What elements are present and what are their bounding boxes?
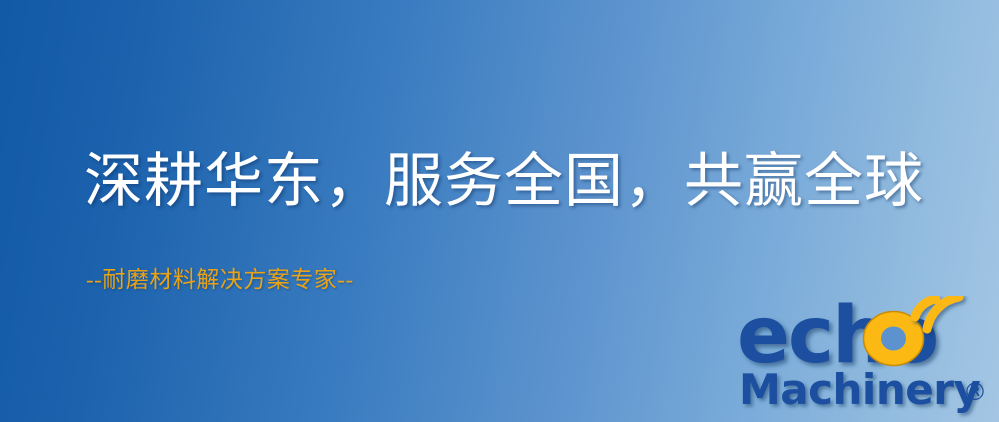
- logo-tagline-text: Machinery: [739, 365, 980, 414]
- banner-headline: 深耕华东，服务全国，共赢全球: [84, 152, 924, 211]
- registered-mark-icon: ®: [963, 378, 987, 406]
- logo-svg: echo Machinery ®: [737, 296, 999, 422]
- logo-tagline: Machinery: [739, 365, 980, 414]
- echo-machinery-logo: echo Machinery ®: [737, 296, 999, 422]
- banner-subtitle: --耐磨材料解决方案专家--: [86, 268, 354, 291]
- promo-banner: 深耕华东，服务全国，共赢全球 --耐磨材料解决方案专家-- echo: [0, 0, 999, 422]
